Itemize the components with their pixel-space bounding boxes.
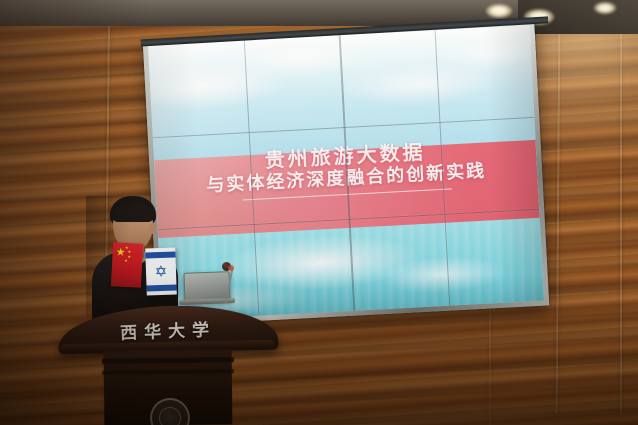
lectern: 西华大学: [58, 288, 278, 425]
china-flag-star-small: ★: [124, 259, 128, 263]
lecture-hall-photo: 贵州旅游大数据 与实体经济深度融合的创新实践: [0, 0, 638, 425]
ceiling-light-icon: [594, 2, 616, 14]
israel-flag-stripe: [145, 251, 175, 258]
microphone-windscreen: [228, 265, 234, 271]
speaker-ear: [149, 223, 156, 234]
wall-panel-joint: [620, 34, 622, 414]
china-flag: ★ ★ ★ ★ ★: [111, 242, 143, 288]
wall-panel-joint: [489, 295, 491, 425]
ceiling-light-icon: [486, 4, 512, 18]
star-of-david-icon: ✡: [154, 264, 167, 279]
speaker-hair-front: [111, 202, 155, 222]
